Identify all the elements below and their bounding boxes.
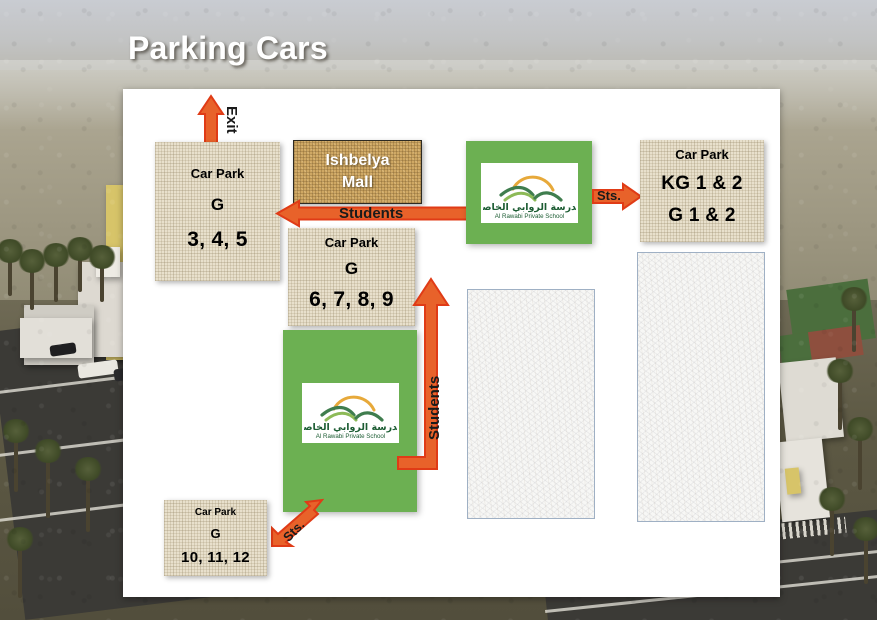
- school-block-bottom: مدرسة الروابي الخاصة Al Rawabi Private S…: [283, 330, 417, 512]
- car-park-101112: Car Park G 10, 11, 12: [164, 500, 267, 576]
- open-area-right: [637, 252, 765, 522]
- parking-map-screenshot: Parking Cars Exit Car Park G 3, 4, 5 Ish…: [0, 0, 877, 620]
- car-park-6789-floor: G: [288, 259, 415, 279]
- school-logo-arabic-bottom: مدرسة الروابي الخاصة: [304, 422, 397, 433]
- mall-name-line1: Ishbelya: [325, 150, 389, 172]
- car-park-345-spaces: 3, 4, 5: [155, 228, 280, 252]
- mall-block: Ishbelya Mall: [293, 140, 422, 204]
- school-logo-english-top: Al Rawabi Private School: [494, 213, 563, 220]
- school-logo-arabic-top: مدرسة الروابي الخاصة: [483, 202, 576, 213]
- car-park-345: Car Park G 3, 4, 5: [155, 142, 280, 281]
- arrow-students-top-label: Students: [339, 205, 403, 222]
- car-park-101112-floor: G: [164, 526, 267, 541]
- car-park-345-heading: Car Park: [155, 167, 280, 181]
- arrow-sts-right-label: Sts.: [597, 188, 621, 203]
- car-park-6789-heading: Car Park: [288, 236, 415, 250]
- arrow-exit: [198, 96, 224, 148]
- al-rawabi-logo-icon: مدرسة الروابي الخاصة Al Rawabi Private S…: [483, 165, 576, 221]
- mall-name-line2: Mall: [342, 172, 373, 194]
- school-logo-bottom: مدرسة الروابي الخاصة Al Rawabi Private S…: [302, 383, 399, 443]
- car-park-101112-spaces: 10, 11, 12: [164, 549, 267, 566]
- car-park-kg-g: Car Park KG 1 & 2 G 1 & 2: [640, 140, 764, 242]
- car-park-6789: Car Park G 6, 7, 8, 9: [288, 228, 415, 326]
- school-logo-english-bottom: Al Rawabi Private School: [315, 433, 384, 440]
- arrow-students-vertical-label: Students: [426, 376, 443, 440]
- car-park-345-floor: G: [155, 195, 280, 215]
- car-park-kg-g-heading: Car Park: [640, 148, 764, 162]
- car-park-kg-g-line1: KG 1 & 2: [640, 173, 764, 195]
- car-park-kg-g-line2: G 1 & 2: [640, 205, 764, 227]
- page-title: Parking Cars: [128, 30, 328, 67]
- arrow-exit-label: Exit: [223, 106, 240, 134]
- al-rawabi-logo-icon: مدرسة الروابي الخاصة Al Rawabi Private S…: [304, 385, 397, 441]
- open-area-left: [467, 289, 595, 519]
- school-block-top: مدرسة الروابي الخاصة Al Rawabi Private S…: [466, 141, 592, 244]
- car-park-6789-spaces: 6, 7, 8, 9: [288, 288, 415, 312]
- car-park-101112-heading: Car Park: [164, 507, 267, 518]
- school-logo-top: مدرسة الروابي الخاصة Al Rawabi Private S…: [481, 163, 578, 223]
